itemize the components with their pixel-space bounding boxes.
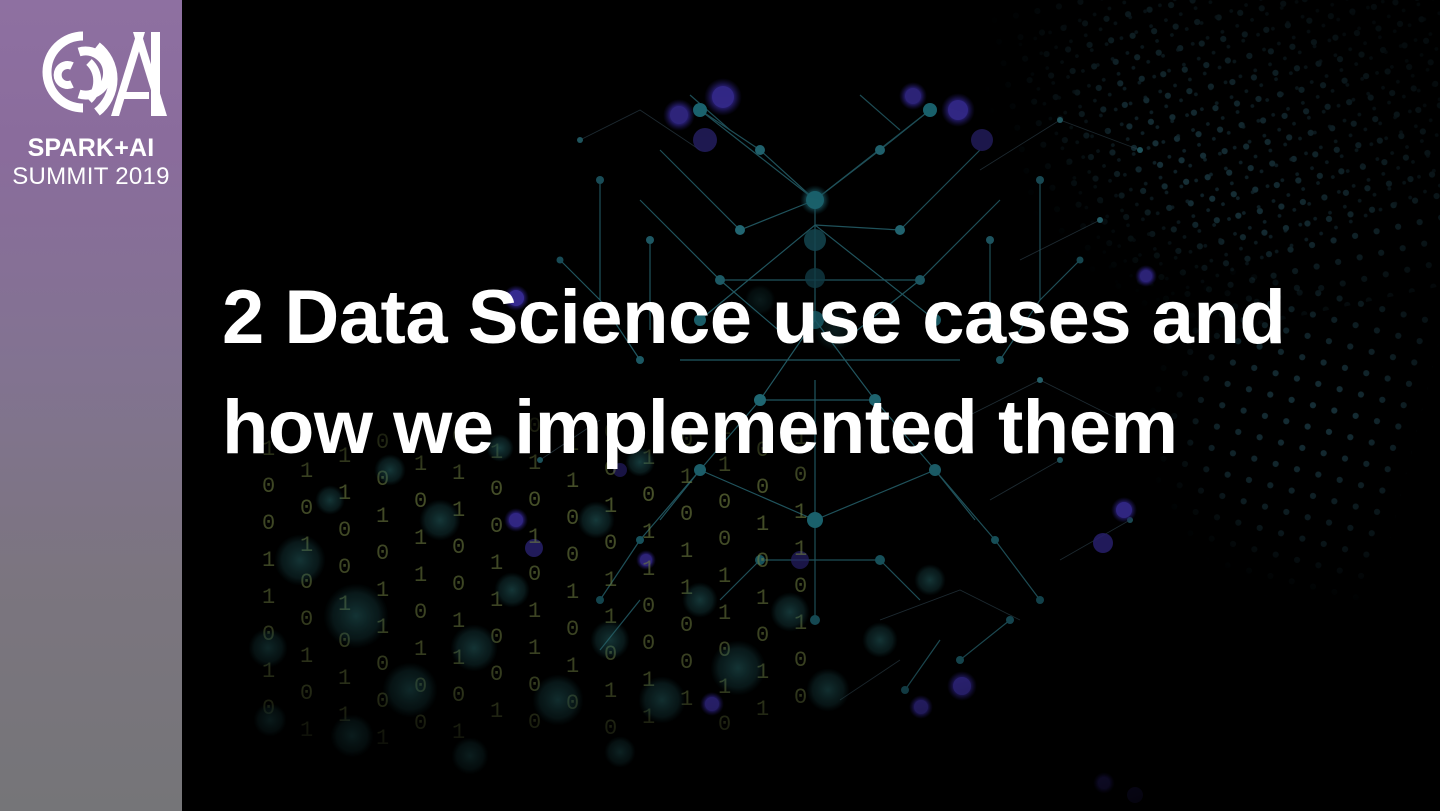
spark-ai-monogram-icon — [15, 16, 167, 128]
brand-sidebar: SPARK+AI SUMMIT 2019 — [0, 0, 182, 811]
presentation-slide: 100 110 10 010 100 101 110 010 11 001 01… — [0, 0, 1440, 811]
summit-logo: SPARK+AI SUMMIT 2019 — [0, 16, 182, 189]
slide-title: 2 Data Science use cases and how we impl… — [222, 263, 1332, 483]
logo-text-secondary: SUMMIT 2019 — [0, 165, 182, 189]
logo-text-primary: SPARK+AI — [0, 136, 182, 161]
